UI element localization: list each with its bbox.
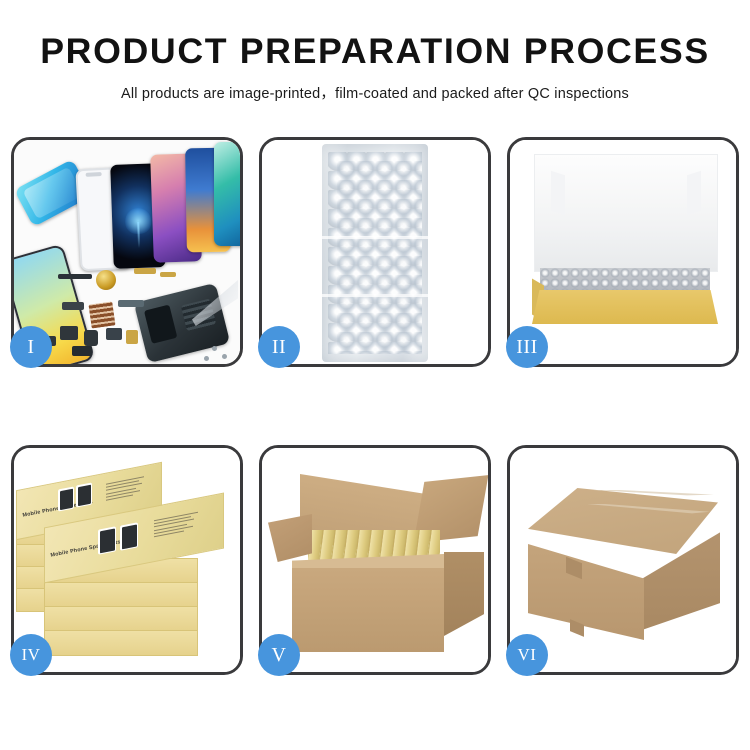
step-panel-1: I bbox=[11, 137, 243, 367]
step-4-illustration: Mobile Phone Spare Parts Mobile Phone Sp… bbox=[14, 448, 240, 672]
speaker-part bbox=[60, 326, 78, 340]
step-panel-3: III bbox=[507, 137, 739, 367]
bubble-texture-overlay bbox=[337, 161, 422, 354]
charging-port-part bbox=[72, 346, 92, 356]
gold-bracket-part bbox=[160, 272, 176, 277]
carton-front-face bbox=[528, 544, 644, 640]
ic-chip-part bbox=[106, 328, 122, 340]
vibrator-part bbox=[84, 330, 98, 346]
retail-box-side bbox=[44, 582, 198, 608]
stacked-boxes-scene: Mobile Phone Spare Parts Mobile Phone Sp… bbox=[14, 448, 240, 672]
step-1-illustration bbox=[14, 140, 240, 364]
bubble-wrap-scene bbox=[262, 140, 488, 364]
carton-side-face bbox=[444, 552, 484, 636]
step-3-illustration bbox=[510, 140, 736, 364]
phone-chassis bbox=[134, 283, 231, 363]
step-badge-1: I bbox=[10, 326, 52, 368]
phone-parts-scene bbox=[14, 140, 240, 364]
page-subtitle: All products are image-printed，film-coat… bbox=[0, 82, 750, 103]
inner-box-scene bbox=[510, 140, 736, 364]
step-panel-6: VI bbox=[507, 445, 739, 675]
wrap-seam bbox=[322, 294, 428, 297]
phone-display-teal bbox=[214, 142, 240, 246]
carton-front-face bbox=[292, 568, 444, 652]
box-print-phone bbox=[76, 482, 92, 507]
box-print-phone bbox=[98, 526, 116, 554]
retail-box-side bbox=[44, 630, 198, 656]
wrap-seam bbox=[322, 236, 428, 239]
flex-cable-part bbox=[58, 274, 92, 279]
screw-part bbox=[204, 356, 209, 361]
box-print-phone bbox=[58, 486, 74, 511]
box-lid-white bbox=[534, 154, 718, 272]
screw-part bbox=[222, 354, 227, 359]
page-title: PRODUCT PREPARATION PROCESS bbox=[0, 34, 750, 69]
open-carton-scene bbox=[262, 448, 488, 672]
sealed-carton-scene bbox=[510, 448, 736, 672]
carton-flap-left bbox=[268, 514, 312, 562]
sim-tray-part bbox=[126, 330, 138, 344]
header: PRODUCT PREPARATION PROCESS All products… bbox=[0, 0, 750, 103]
step-5-illustration bbox=[262, 448, 488, 672]
copper-coil-part bbox=[96, 270, 116, 290]
process-steps-grid: I II bbox=[11, 137, 739, 675]
step-badge-6: VI bbox=[506, 634, 548, 676]
antenna-flex-part bbox=[118, 300, 144, 307]
screw-part bbox=[212, 346, 217, 351]
step-2-illustration bbox=[262, 140, 488, 364]
box-tray-front-kraft bbox=[532, 290, 718, 324]
infographic-page: PRODUCT PREPARATION PROCESS All products… bbox=[0, 0, 750, 750]
step-badge-3: III bbox=[506, 326, 548, 368]
step-badge-2: II bbox=[258, 326, 300, 368]
step-6-illustration bbox=[510, 448, 736, 672]
lid-flap-left bbox=[551, 171, 565, 216]
carton-top-face bbox=[528, 488, 718, 554]
retail-box-side bbox=[44, 606, 198, 632]
lid-flap-right bbox=[687, 171, 701, 216]
gold-connector-part bbox=[134, 268, 156, 274]
step-panel-5: V bbox=[259, 445, 491, 675]
connector-grid-part bbox=[88, 301, 115, 328]
box-print-phone bbox=[120, 522, 138, 550]
step-panel-2: II bbox=[259, 137, 491, 367]
bubble-wrapped-package bbox=[322, 144, 428, 362]
step-panel-4: Mobile Phone Spare Parts Mobile Phone Sp… bbox=[11, 445, 243, 675]
camera-module-part bbox=[62, 302, 84, 310]
step-badge-5: V bbox=[258, 634, 300, 676]
step-badge-4: IV bbox=[10, 634, 52, 676]
